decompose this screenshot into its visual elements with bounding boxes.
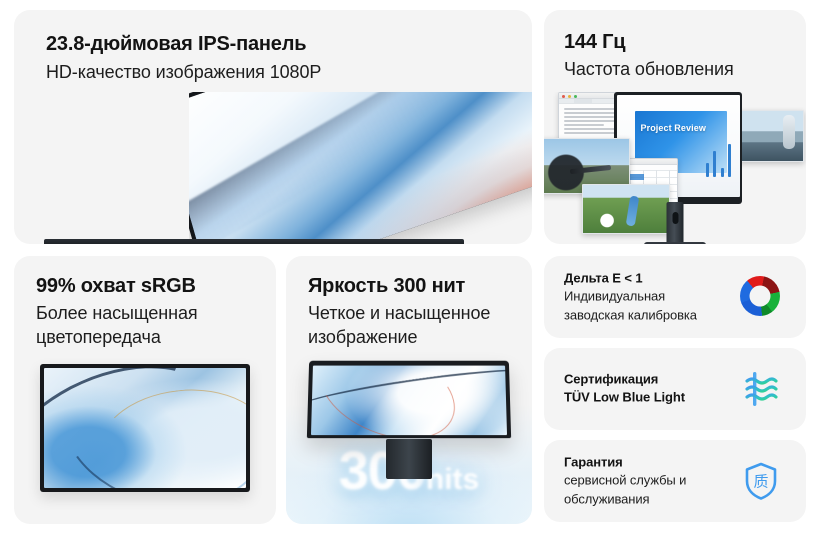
card-warranty-subtitle-line2: обслуживания bbox=[564, 490, 686, 508]
card-refresh-subtitle: Частота обновления bbox=[564, 58, 734, 81]
slide-title: Project Review bbox=[641, 123, 706, 133]
tilted-monitor-artwork bbox=[189, 92, 532, 244]
nits-unit: nits bbox=[426, 463, 479, 496]
card-ips-title: 23.8-дюймовая IPS-панель bbox=[46, 32, 321, 56]
card-delta-e-text: Дельта E < 1 Индивидуальная заводская ка… bbox=[564, 269, 697, 324]
card-warranty-title: Гарантия bbox=[564, 453, 686, 471]
card-refresh-text: 144 Гц Частота обновления bbox=[564, 30, 734, 82]
card-warranty-text: Гарантия сервисной службы и обслуживания bbox=[564, 453, 686, 508]
card-srgb-title: 99% охват sRGB bbox=[36, 274, 198, 298]
color-wheel-ring bbox=[740, 276, 780, 316]
flat-monitor-panel bbox=[40, 364, 250, 492]
card-delta-e[interactable]: Дельта E < 1 Индивидуальная заводская ка… bbox=[544, 256, 806, 338]
monitor-body bbox=[189, 92, 532, 244]
brightness-monitor-screen bbox=[311, 366, 507, 436]
card-certification-title: Сертификация bbox=[564, 371, 685, 389]
card-certification-subtitle: TÜV Low Blue Light bbox=[564, 389, 685, 407]
card-brightness-subtitle-line2: изображение bbox=[308, 326, 490, 349]
card-warranty[interactable]: Гарантия сервисной службы и обслуживания… bbox=[544, 440, 806, 522]
card-brightness[interactable]: Яркость 300 нит Четкое и насыщенное изоб… bbox=[286, 256, 532, 524]
brightness-monitor-stand bbox=[386, 439, 432, 479]
low-blue-light-icon bbox=[740, 368, 782, 410]
card-delta-e-subtitle-line2: заводская калибровка bbox=[564, 306, 697, 324]
flat-monitor-screen bbox=[44, 368, 246, 488]
soccer-photo-thumb bbox=[582, 184, 670, 234]
chart-bars bbox=[706, 143, 734, 177]
color-wheel-icon bbox=[740, 276, 782, 318]
multi-window-artwork: Project Review bbox=[544, 92, 806, 244]
brightness-monitor bbox=[307, 361, 511, 438]
card-warranty-subtitle-line1: сервисной службы и bbox=[564, 472, 686, 490]
card-delta-e-title: Дельта E < 1 bbox=[564, 269, 697, 287]
card-srgb-text: 99% охват sRGB Более насыщенная цветопер… bbox=[36, 274, 198, 349]
card-srgb-subtitle-line1: Более насыщенная bbox=[36, 302, 198, 325]
card-delta-e-subtitle-line1: Индивидуальная bbox=[564, 288, 697, 306]
card-ips-subtitle: HD-качество изображения 1080P bbox=[46, 61, 321, 84]
card-brightness-text: Яркость 300 нит Четкое и насыщенное изоб… bbox=[308, 274, 490, 349]
monitor-screen-wallpaper bbox=[189, 92, 532, 244]
shield-glyph: 质 bbox=[753, 473, 768, 491]
shield-quality-icon: 质 bbox=[740, 460, 782, 502]
product-feature-grid: 23.8-дюймовая IPS-панель HD-качество изо… bbox=[0, 0, 820, 534]
card-ips-panel[interactable]: 23.8-дюймовая IPS-панель HD-качество изо… bbox=[14, 10, 532, 244]
card-brightness-title: Яркость 300 нит bbox=[308, 274, 490, 298]
card-brightness-subtitle-line1: Четкое и насыщенное bbox=[308, 302, 490, 325]
monitor-base-bar bbox=[44, 239, 464, 244]
monitor-stand bbox=[667, 202, 684, 244]
monitor-foot bbox=[644, 242, 706, 244]
card-srgb-subtitle-line2: цветопередача bbox=[36, 326, 198, 349]
card-refresh-rate[interactable]: 144 Гц Частота обновления bbox=[544, 10, 806, 244]
card-certification[interactable]: Сертификация TÜV Low Blue Light bbox=[544, 348, 806, 430]
card-srgb-coverage[interactable]: 99% охват sRGB Более насыщенная цветопер… bbox=[14, 256, 276, 524]
card-ips-text: 23.8-дюймовая IPS-панель HD-качество изо… bbox=[46, 32, 321, 85]
card-certification-text: Сертификация TÜV Low Blue Light bbox=[564, 371, 685, 408]
card-refresh-title: 144 Гц bbox=[564, 30, 734, 54]
